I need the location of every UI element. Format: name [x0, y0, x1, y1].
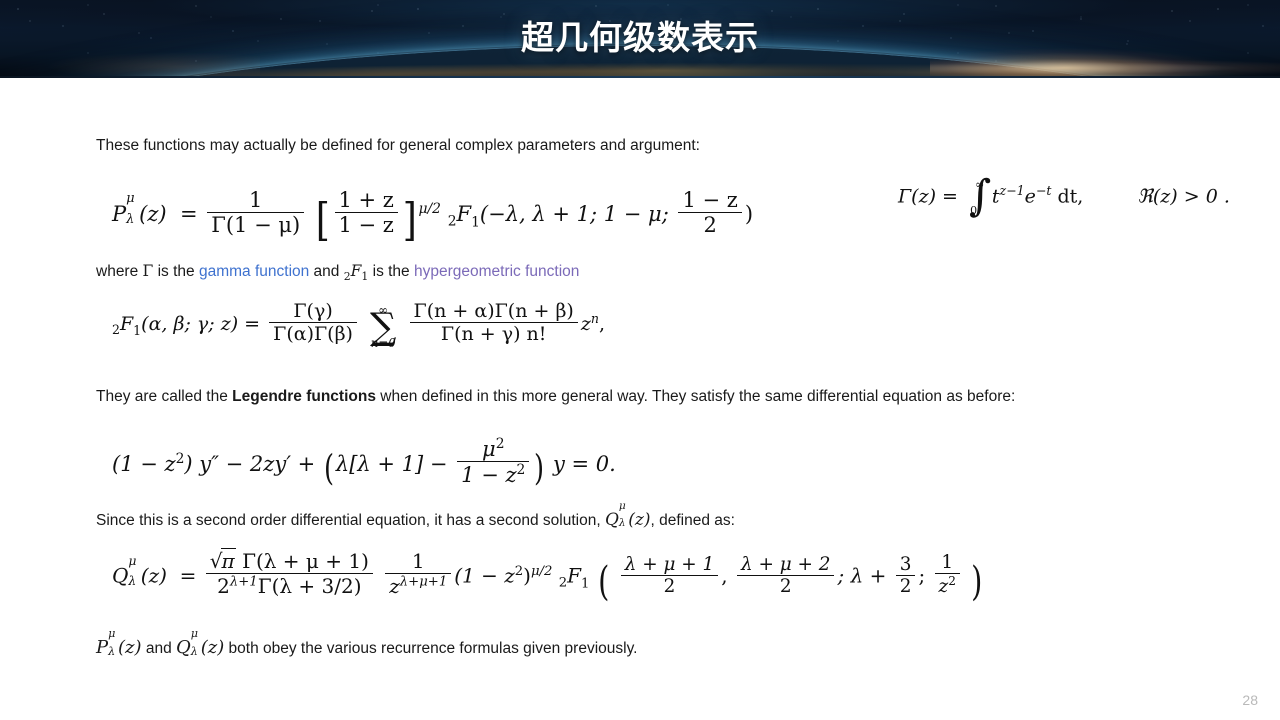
eq4-power-fraction: 1 zλ+μ+1 — [385, 549, 451, 598]
ode-part1: (1 − z — [112, 452, 176, 476]
eq1-inner-fraction: 1 − z 2 — [678, 188, 741, 237]
is-the-text-1: is the — [153, 263, 199, 280]
eq4-arg: (z) — [141, 564, 167, 588]
gamma-exp-exponent: −t — [1036, 183, 1052, 198]
ode-part2: ) y″ − 2zy′ + — [184, 452, 315, 476]
eq4-factor-close: ) — [523, 564, 531, 588]
banner-bottom-divider — [0, 76, 1280, 78]
page-title: 超几何级数表示 — [0, 0, 1280, 78]
gamma-integrand-exponent: z−1 — [1000, 183, 1025, 198]
eq4-equals: = — [173, 564, 196, 588]
gamma-exp-base: e — [1025, 185, 1036, 207]
where-text: where — [96, 263, 143, 280]
link-gamma-function[interactable]: gamma function — [199, 263, 309, 280]
eq4-factor: (1 − z — [454, 564, 515, 588]
same-ode-text: when defined in this more general way. T… — [376, 388, 1015, 405]
eq1-left-bracket: [ — [316, 206, 330, 234]
eq4-factor-exponent: 2 — [515, 564, 523, 579]
eq4-right-paren: ) — [972, 570, 983, 594]
eq4-hyper-arg3-prefix: ; λ + — [837, 564, 886, 588]
eq1-equals: = — [173, 202, 197, 226]
ode-tail: y = 0. — [553, 452, 616, 476]
link-hypergeometric-function[interactable]: hypergeometric function — [414, 263, 579, 280]
eq1-ratio-fraction: 1 + z 1 − z — [335, 188, 398, 237]
eq1-F-subscript: 1 — [471, 214, 480, 230]
eq2-lhs-args: (α, β; γ; z) = — [141, 313, 260, 335]
P-symbol-inline: Pμλ(z) — [96, 637, 142, 658]
Q-symbol-inline-2: Qμλ(z) — [176, 637, 224, 658]
eq4-F-symbol: F — [567, 564, 581, 588]
eq2-2f1-presubscript: 2 — [112, 322, 120, 337]
gamma-differential: dt, — [1057, 185, 1083, 207]
gamma-symbol-inline: Γ — [143, 262, 154, 280]
eq1-F-symbol: F — [457, 202, 472, 226]
recurrence-text: both obey the various recurrence formula… — [224, 640, 637, 657]
eq2-F-subscript: 1 — [133, 323, 141, 338]
equation-legendre-Q: Qμλ(z) = √π Γ(λ + μ + 1) 2λ+1Γ(λ + 3/2) … — [112, 548, 985, 598]
paragraph-intro: These functions may actually be defined … — [96, 136, 700, 157]
eq4-F-subscript: 1 — [581, 577, 589, 592]
and-text: and — [309, 263, 343, 280]
paragraph-links: where Γ is the gamma function and 2F1 is… — [96, 261, 579, 285]
eq1-hyper-args: (−λ, λ + 1; 1 − μ; — [480, 202, 669, 226]
page-number: 28 — [1242, 692, 1258, 708]
eq4-left-paren: ( — [598, 570, 609, 594]
slide-content: These functions may actually be defined … — [0, 78, 1280, 720]
ode-left-paren: ( — [324, 458, 334, 480]
eq2-term-fraction: Γ(n + α)Γ(n + β) Γ(n + γ) n! — [410, 300, 578, 345]
eq4-sqrt-pi: √π — [210, 548, 236, 573]
eq4-main-fraction: √π Γ(λ + μ + 1) 2λ+1Γ(λ + 3/2) — [206, 548, 373, 598]
eq4-hyper-arg4: 1 z2 — [935, 552, 960, 597]
ode-right-paren: ) — [534, 458, 544, 480]
ode-mu-fraction: μ2 1 − z2 — [457, 436, 529, 487]
equation-legendre-P: Pμλ(z) = 1 Γ(1 − μ) [ 1 + z 1 − z ]μ/2 2… — [112, 188, 753, 237]
legendre-functions-bold: Legendre functions — [232, 388, 376, 405]
eq2-comma: , — [599, 313, 605, 335]
eq1-close-paren: ) — [745, 202, 753, 226]
gamma-lhs: Γ(z) = — [898, 185, 958, 207]
equation-legendre-ode: (1 − z2) y″ − 2zy′ + (λ[λ + 1] − μ2 1 − … — [112, 436, 616, 487]
eq4-semicolon: ; — [918, 564, 925, 588]
ode-paren-inner: λ[λ + 1] − — [336, 452, 448, 476]
eq1-bracket-exponent: μ/2 — [419, 201, 442, 217]
eq2-z-exponent: n — [591, 311, 599, 326]
eq4-hyper-arg1: λ + μ + 1 2 — [621, 554, 719, 597]
paragraph-recurrence: Pμλ(z) and Qμλ(z) both obey the various … — [96, 635, 637, 660]
eq2-F-symbol: F — [120, 313, 133, 335]
eq4-lhs: Q — [112, 564, 128, 588]
eq2-z-power: z — [581, 313, 591, 335]
eq1-2f1-presubscript: 2 — [448, 213, 457, 229]
eq1-right-bracket: ] — [403, 206, 417, 234]
eq4-factor-power: μ/2 — [531, 564, 552, 579]
eq1-arg: (z) — [139, 202, 166, 226]
gamma-condition: ℜ(z) > 0 . — [1137, 185, 1229, 207]
equation-hypergeometric-series: 2F1(α, β; γ; z) = Γ(γ) Γ(α)Γ(β) ∞ ∑ n=0 … — [112, 300, 605, 345]
defined-as-text: , defined as: — [650, 512, 734, 529]
and-text-2: and — [142, 640, 176, 657]
summation-operator-icon: ∞ ∑ n=0 — [370, 313, 396, 342]
eq1-indices: μλ — [126, 200, 139, 221]
integral-operator-icon: ∞ ∫ 0 — [969, 182, 984, 212]
is-the-text-2: is the — [368, 263, 414, 280]
equation-gamma-definition: Γ(z) = ∞ ∫ 0 tz−1e−t dt, ℜ(z) > 0 . — [898, 182, 1230, 212]
paragraph-second-solution: Since this is a second order differentia… — [96, 508, 735, 532]
paragraph-legendre-functions: They are called the Legendre functions w… — [96, 387, 1015, 408]
called-the-text: They are called the — [96, 388, 232, 405]
slide-banner: 超几何级数表示 — [0, 0, 1280, 78]
Q-symbol-inline: Qμλ(z) — [605, 510, 651, 530]
eq4-indices: μλ — [128, 563, 140, 583]
eq1-prefactor-fraction: 1 Γ(1 − μ) — [207, 188, 304, 237]
eq4-hyper-arg3-fraction: 3 2 — [896, 554, 916, 597]
eq1-lhs: P — [112, 202, 126, 226]
eq2-gamma-ratio-fraction: Γ(γ) Γ(α)Γ(β) — [269, 300, 357, 345]
second-order-text: Since this is a second order differentia… — [96, 512, 605, 529]
eq4-comma: , — [721, 564, 727, 588]
slide: 超几何级数表示 These functions may actually be … — [0, 0, 1280, 720]
eq4-hyper-arg2: λ + μ + 2 2 — [737, 554, 835, 597]
eq4-2f1-presubscript: 2 — [559, 576, 567, 591]
2f1-symbol-inline: 2F1 — [344, 262, 369, 280]
gamma-integrand-t: t — [992, 185, 1000, 207]
